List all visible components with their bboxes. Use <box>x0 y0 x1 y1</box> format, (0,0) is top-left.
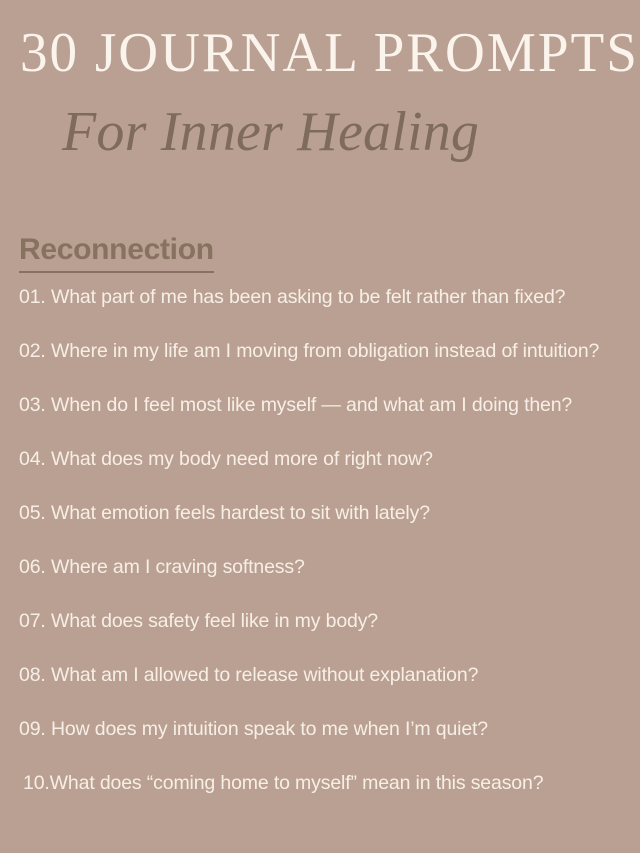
prompt-text: What part of me has been asking to be fe… <box>51 286 565 308</box>
prompt-list-item: 02. Where in my life am I moving from ob… <box>19 337 621 365</box>
prompt-number: 04. <box>19 448 46 470</box>
prompt-number: 03. <box>19 394 46 416</box>
prompt-number: 05. <box>19 502 46 524</box>
prompt-list-item: 08. What am I allowed to release without… <box>19 661 621 689</box>
prompt-text: When do I feel most like myself — and wh… <box>51 394 572 416</box>
prompt-number: 02. <box>19 340 46 362</box>
prompt-list-item: 09. How does my intuition speak to me wh… <box>19 715 621 743</box>
prompt-list-item: 05. What emotion feels hardest to sit wi… <box>19 499 621 527</box>
prompt-number: 09. <box>19 718 46 740</box>
prompt-number: 06. <box>19 556 46 578</box>
prompt-list-item: 10.What does “coming home to myself” mea… <box>19 769 621 797</box>
prompt-number: 07. <box>19 610 46 632</box>
prompt-number: 10. <box>23 772 50 794</box>
prompt-list-item: 04. What does my body need more of right… <box>19 445 621 473</box>
poster-title: 30 JOURNAL PROMPTS <box>20 22 611 84</box>
prompt-text: What does safety feel like in my body? <box>51 610 378 632</box>
prompt-number: 08. <box>19 664 46 686</box>
prompt-text: Where am I craving softness? <box>51 556 305 578</box>
prompt-text: How does my intuition speak to me when I… <box>51 718 488 740</box>
poster-subtitle: For Inner Healing <box>62 98 622 166</box>
journal-prompts-poster: 30 JOURNAL PROMPTS For Inner Healing Rec… <box>0 0 640 853</box>
prompt-list: 01. What part of me has been asking to b… <box>19 283 621 797</box>
prompt-number: 01. <box>19 286 46 308</box>
prompt-list-item: 01. What part of me has been asking to b… <box>19 283 621 311</box>
prompt-list-item: 03. When do I feel most like myself — an… <box>19 391 621 419</box>
prompt-list-item: 06. Where am I craving softness? <box>19 553 621 581</box>
prompt-text: What does my body need more of right now… <box>51 448 433 470</box>
section-heading-reconnection: Reconnection <box>19 232 214 273</box>
prompt-text: What does “coming home to myself” mean i… <box>50 772 544 794</box>
prompt-text: What am I allowed to release without exp… <box>51 664 478 686</box>
prompt-text: What emotion feels hardest to sit with l… <box>51 502 430 524</box>
prompt-list-item: 07. What does safety feel like in my bod… <box>19 607 621 635</box>
prompt-text: Where in my life am I moving from obliga… <box>51 340 599 362</box>
